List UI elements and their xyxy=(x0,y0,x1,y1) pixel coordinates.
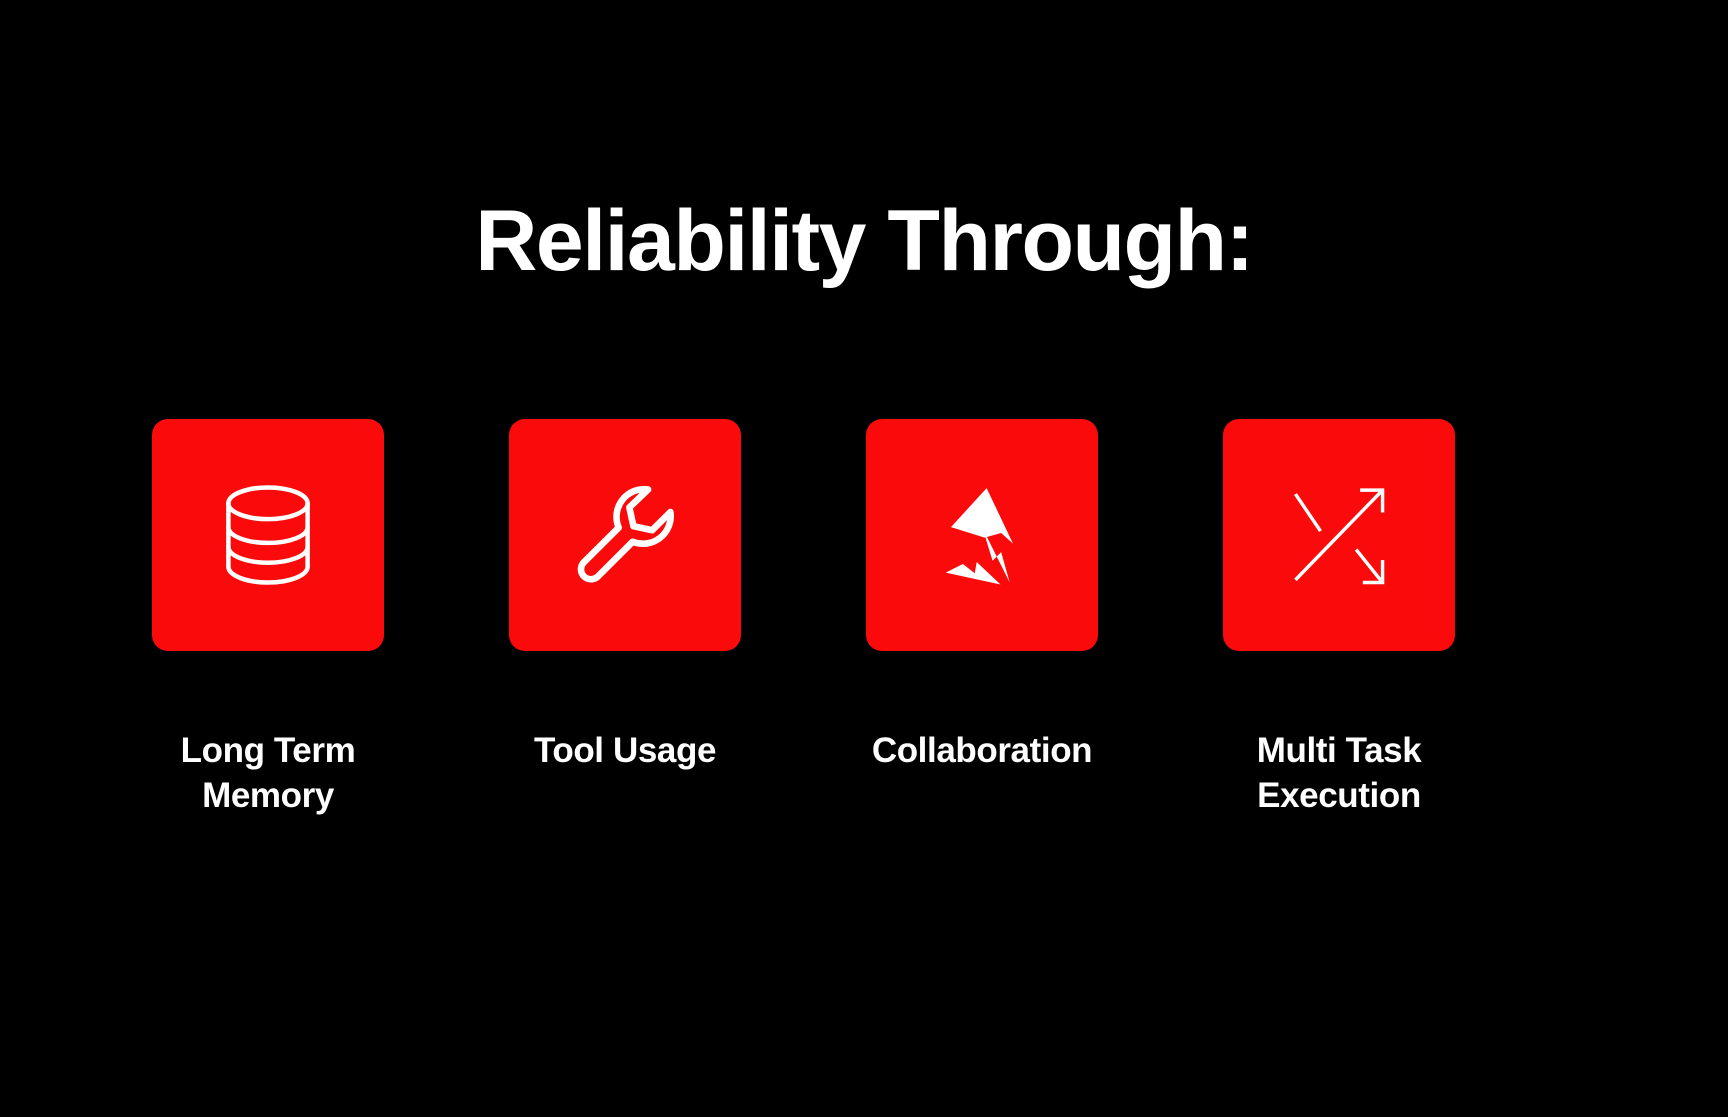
icon-tile-long-term-memory[interactable] xyxy=(152,419,384,651)
feature-card-label: Multi Task Execution xyxy=(1257,729,1422,819)
feature-card-long-term-memory[interactable]: Long Term Memory xyxy=(152,419,384,819)
icon-tile-multi-task-execution[interactable] xyxy=(1223,419,1455,651)
icon-tile-tool-usage[interactable] xyxy=(509,419,741,651)
database-icon xyxy=(202,469,334,601)
feature-card-label: Tool Usage xyxy=(534,729,716,774)
icon-tile-collaboration[interactable] xyxy=(866,419,1098,651)
feature-card-row: Long Term Memory Tool Usage xyxy=(152,419,1576,819)
feature-card-label: Long Term Memory xyxy=(181,729,356,819)
feature-card-label: Collaboration xyxy=(872,729,1092,774)
wrench-icon xyxy=(559,469,691,601)
feature-card-multi-task-execution[interactable]: Multi Task Execution xyxy=(1223,419,1455,819)
page-title: Reliability Through: xyxy=(0,196,1728,286)
shuffle-arrows-icon xyxy=(1273,469,1405,601)
slide-root: Reliability Through: Long Term Memory xyxy=(0,0,1728,1117)
recycle-arrows-icon xyxy=(916,469,1048,601)
feature-card-tool-usage[interactable]: Tool Usage xyxy=(509,419,741,819)
feature-card-collaboration[interactable]: Collaboration xyxy=(866,419,1098,819)
